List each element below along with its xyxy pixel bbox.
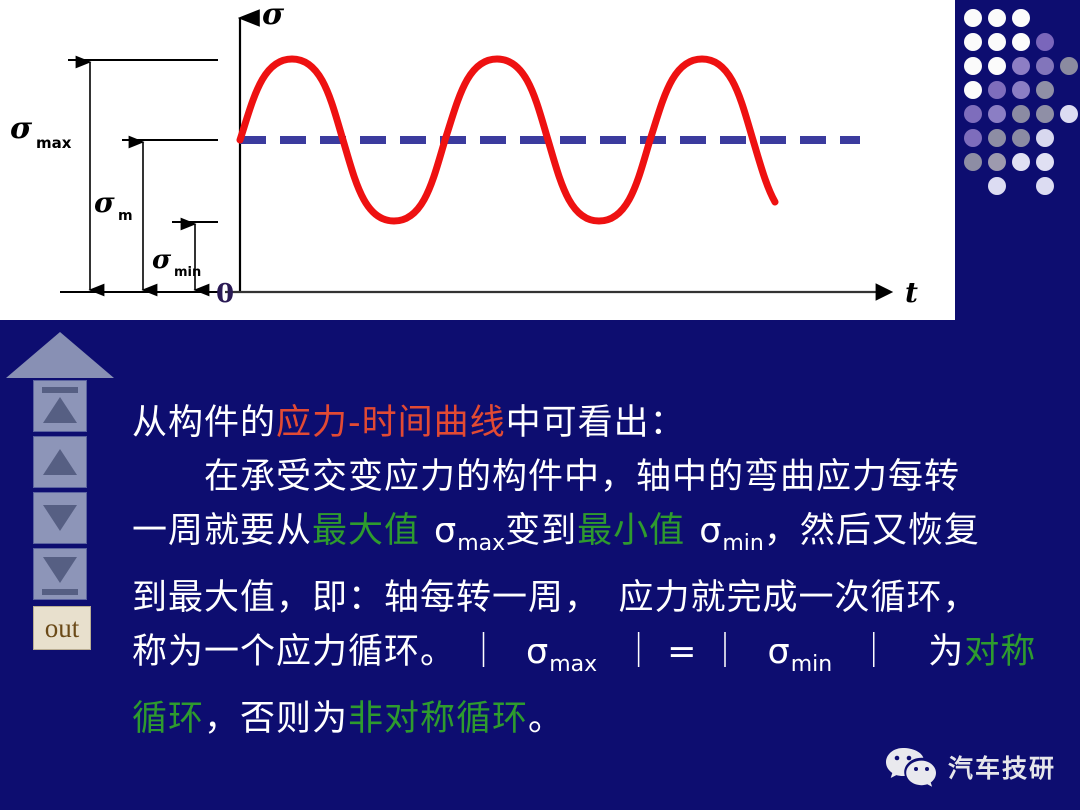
text-line-5: 称为一个应力循环。｜σmax｜=｜σmin｜为对称	[132, 625, 1062, 692]
triangle-up-icon	[43, 397, 77, 423]
line5-sigma-max-sub: max	[549, 652, 597, 677]
line5-part-d: 为	[928, 632, 964, 672]
line3-sigma-2-sub: min	[722, 531, 764, 556]
line5-bar-4: ｜	[846, 625, 902, 679]
line1-highlight-red: 应力-时间曲线	[276, 403, 506, 443]
footer-brand-text: 汽车技研	[948, 749, 1056, 785]
y-axis-label: σ	[262, 0, 285, 32]
dot-row-7	[964, 153, 1054, 171]
first-slide-button[interactable]	[33, 380, 87, 432]
stress-time-chart-panel: σ max σ m σ min σ t 0	[0, 0, 955, 320]
bar-icon	[42, 387, 78, 393]
text-line-4: 到最大值，即：轴每转一周， 应力就完成一次循环，	[132, 571, 1062, 625]
svg-text:σ: σ	[10, 111, 33, 146]
next-slide-button[interactable]	[33, 492, 87, 544]
line3-part-d: 变到	[505, 511, 577, 551]
line6-highlight-cycle: 循环	[132, 699, 204, 739]
triangle-down-icon	[43, 505, 77, 531]
previous-slide-button[interactable]	[33, 436, 87, 488]
line3-highlight-max: 最大值	[312, 511, 420, 551]
dot-row-6	[964, 129, 1054, 147]
line6-part-d: 。	[528, 699, 564, 739]
line3-sigma-2: σ	[699, 511, 722, 551]
line1-part-a: 从构件的	[132, 403, 276, 443]
dot-row-1	[964, 9, 1030, 27]
dot-grid-decoration	[955, 0, 1080, 320]
line5-sigma-min: σ	[768, 632, 791, 672]
dot-row-8	[988, 177, 1054, 195]
line3-part-g: ，然后又恢复	[764, 511, 980, 551]
footer-brand: 汽车技研	[884, 746, 1056, 788]
sigma-max-label: σ max	[10, 111, 72, 152]
line1-part-c: 中可看出：	[506, 403, 686, 443]
line6-highlight-asymmetric: 非对称循环	[348, 699, 528, 739]
dot-row-2	[964, 33, 1054, 51]
line5-sigma-min-sub: min	[791, 652, 833, 677]
svg-text:σ: σ	[94, 186, 115, 219]
line5-equals: =	[667, 632, 697, 672]
sigma-m-label: σ m	[94, 186, 133, 224]
text-line-2: 在承受交变应力的构件中，轴中的弯曲应力每转	[132, 450, 1062, 504]
bar-icon	[42, 589, 78, 595]
line5-bar-1: ｜	[456, 625, 512, 679]
svg-text:m: m	[118, 208, 133, 224]
sigma-min-label: σ min	[152, 245, 201, 280]
dot-row-3	[964, 57, 1078, 75]
dot-row-4	[964, 81, 1054, 99]
line3-part-a: 一周就要从	[132, 511, 312, 551]
line5-part-a: 称为一个应力循环。	[132, 632, 456, 672]
triangle-up-icon	[43, 449, 77, 475]
line3-highlight-min: 最小值	[577, 511, 685, 551]
svg-text:max: max	[36, 134, 72, 152]
line6-part-b: ，否则为	[204, 699, 348, 739]
line2-text: 在承受交变应力的构件中，轴中的弯曲应力每转	[204, 457, 960, 497]
line5-highlight-symmetric: 对称	[964, 632, 1036, 672]
line5-sigma-max: σ	[526, 632, 549, 672]
triangle-down-icon	[43, 557, 77, 583]
stress-time-chart: σ max σ m σ min σ t 0	[0, 0, 955, 320]
line3-sigma-1-sub: max	[457, 531, 505, 556]
line3-sigma-1: σ	[434, 511, 457, 551]
text-line-3: 一周就要从最大值σmax变到最小值σmin，然后又恢复	[132, 504, 1062, 571]
text-line-1: 从构件的应力-时间曲线中可看出：	[132, 396, 1062, 450]
svg-text:σ: σ	[152, 245, 172, 275]
line4-text: 到最大值，即：轴每转一周， 应力就完成一次循环，	[132, 578, 979, 618]
x-axis-label: t	[905, 276, 918, 309]
home-arrow-icon[interactable]	[6, 332, 114, 378]
svg-text:min: min	[174, 265, 201, 280]
last-slide-button[interactable]	[33, 548, 87, 600]
line5-bar-3: ｜	[698, 625, 754, 679]
origin-label: 0	[216, 279, 234, 309]
dot-row-5	[964, 105, 1078, 123]
out-button[interactable]: out	[33, 606, 91, 650]
text-line-6: 循环，否则为非对称循环。	[132, 692, 1062, 746]
slide-navigation-rail: out	[6, 332, 114, 742]
slide-body-text: 从构件的应力-时间曲线中可看出： 在承受交变应力的构件中，轴中的弯曲应力每转 一…	[132, 396, 1062, 746]
dot-grid-svg	[955, 0, 1080, 200]
line5-bar-2: ｜	[611, 625, 667, 679]
wechat-icon	[884, 746, 936, 788]
